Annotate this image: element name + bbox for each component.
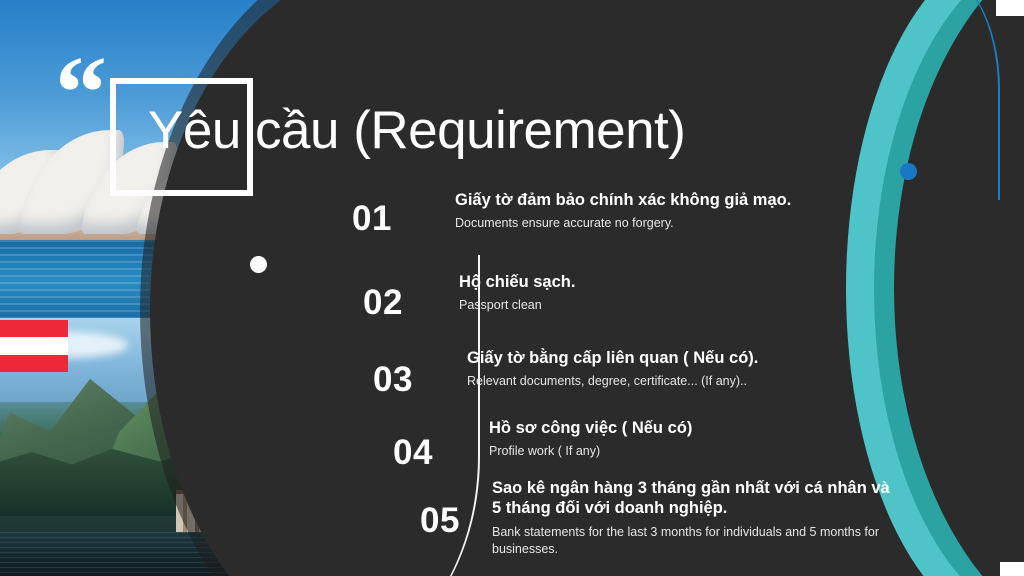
item-heading: Hồ sơ công việc ( Nếu có): [489, 418, 909, 438]
item-number: 04: [393, 435, 433, 470]
item-text-block: Giấy tờ bằng cấp liên quan ( Nếu có). Re…: [467, 348, 897, 389]
slide-canvas: “ Yêu cầu (Requirement) 01 Giấy tờ đảm b…: [0, 0, 1024, 576]
item-heading: Giấy tờ bằng cấp liên quan ( Nếu có).: [467, 348, 897, 368]
item-subtext: Documents ensure accurate no forgery.: [455, 215, 875, 231]
item-subtext: Relevant documents, degree, certificate.…: [467, 373, 897, 389]
item-text-block: Sao kê ngân hàng 3 tháng gần nhất với cá…: [492, 478, 917, 557]
item-subtext: Passport clean: [459, 297, 879, 313]
item-number: 01: [352, 201, 392, 236]
item-heading: Sao kê ngân hàng 3 tháng gần nhất với cá…: [492, 478, 917, 518]
item-number: 02: [363, 285, 403, 320]
requirement-list: 01 Giấy tờ đảm bảo chính xác không giả m…: [0, 0, 1024, 576]
item-text-block: Hộ chiếu sạch. Passport clean: [459, 272, 879, 313]
item-heading: Hộ chiếu sạch.: [459, 272, 879, 292]
item-number: 03: [373, 362, 413, 397]
item-text-block: Giấy tờ đảm bảo chính xác không giả mạo.…: [455, 190, 875, 231]
item-text-block: Hồ sơ công việc ( Nếu có) Profile work (…: [489, 418, 909, 459]
item-heading: Giấy tờ đảm bảo chính xác không giả mạo.: [455, 190, 875, 210]
item-number: 05: [420, 503, 460, 538]
item-subtext: Profile work ( If any): [489, 443, 909, 459]
item-subtext: Bank statements for the last 3 months fo…: [492, 524, 917, 557]
